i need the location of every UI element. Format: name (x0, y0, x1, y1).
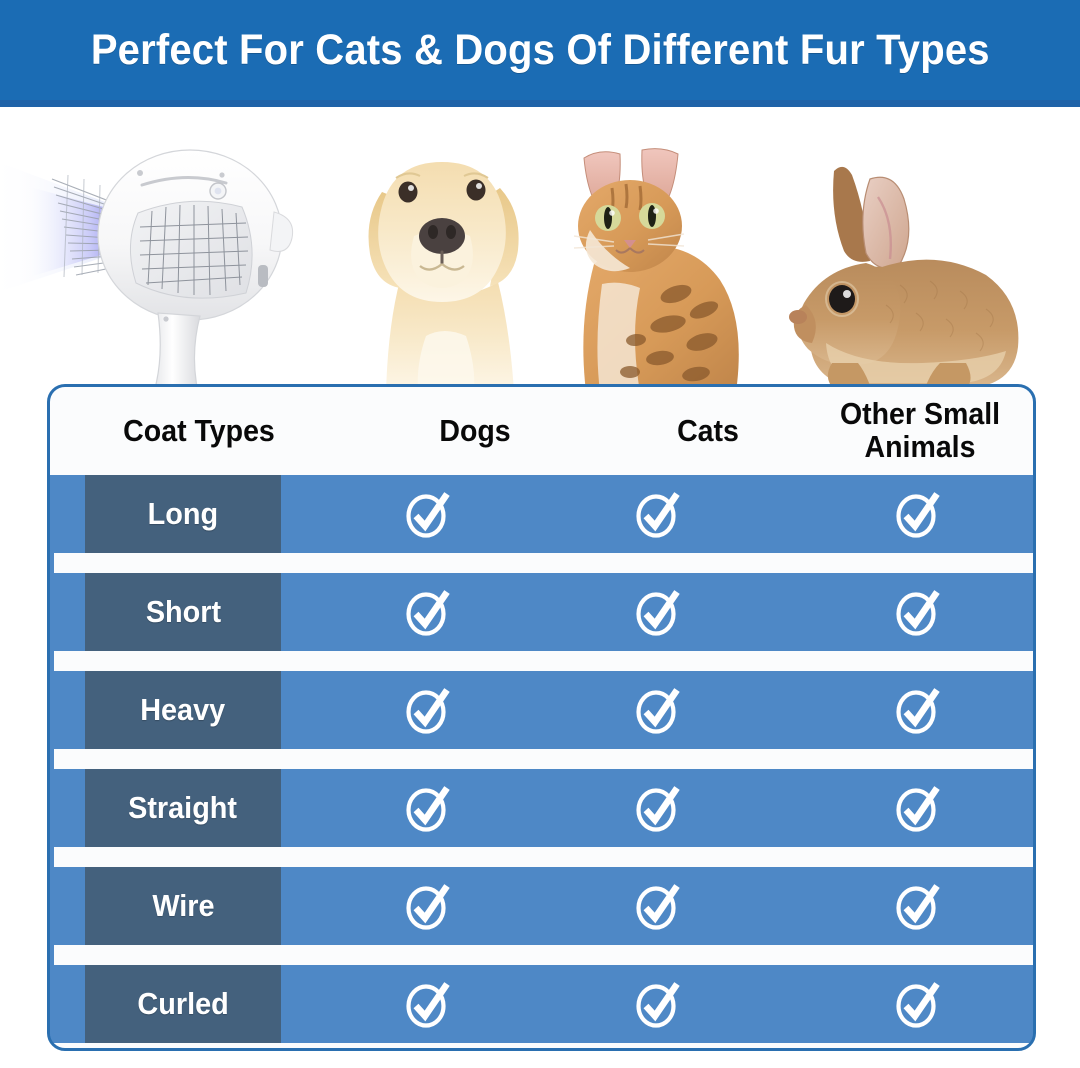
check-cell-other (878, 965, 958, 1043)
dog-photo (330, 140, 570, 392)
header-banner: Perfect For Cats & Dogs Of Different Fur… (0, 0, 1080, 100)
coat-type-label: Wire (152, 888, 214, 924)
check-circle-icon (405, 686, 451, 734)
check-cell-cats (618, 769, 698, 847)
check-circle-icon (895, 882, 941, 930)
check-circle-icon (895, 588, 941, 636)
cat-photo (556, 144, 771, 392)
table-row-separator (50, 651, 1033, 671)
check-cell-other (878, 475, 958, 553)
coat-type-cell: Short (85, 573, 281, 651)
coat-type-cell: Heavy (85, 671, 281, 749)
rabbit-photo (770, 157, 1050, 392)
coat-type-label: Short (145, 594, 220, 630)
check-circle-icon (635, 588, 681, 636)
table-row: Straight (50, 769, 1033, 847)
coat-type-compatibility-table: Coat Types Dogs Cats Other Small Animals… (47, 384, 1036, 1051)
column-header-dogs: Dogs (360, 415, 590, 448)
check-cell-dogs (388, 671, 468, 749)
check-cell-other (878, 671, 958, 749)
check-cell-cats (618, 573, 698, 651)
table-row-separator (50, 553, 1033, 573)
check-circle-icon (635, 784, 681, 832)
check-cell-other (878, 867, 958, 945)
check-circle-icon (405, 490, 451, 538)
coat-type-label: Heavy (141, 692, 226, 728)
pet-grooming-brush-icon (0, 117, 300, 392)
check-cell-dogs (388, 867, 468, 945)
check-cell-cats (618, 965, 698, 1043)
check-cell-cats (618, 671, 698, 749)
hero-image-strip (0, 107, 1080, 392)
check-cell-other (878, 573, 958, 651)
check-circle-icon (895, 980, 941, 1028)
check-circle-icon (635, 980, 681, 1028)
table-row: Long (50, 475, 1033, 553)
check-cell-cats (618, 475, 698, 553)
coat-type-cell: Long (85, 475, 281, 553)
coat-type-label: Straight (129, 790, 238, 826)
check-cell-dogs (388, 573, 468, 651)
check-circle-icon (635, 490, 681, 538)
column-header-other-line2: Animals (805, 431, 1035, 464)
table-row: Curled (50, 965, 1033, 1043)
coat-type-cell: Wire (85, 867, 281, 945)
check-circle-icon (895, 784, 941, 832)
check-cell-dogs (388, 769, 468, 847)
coat-type-label: Long (148, 496, 218, 532)
product-infographic-page: Perfect For Cats & Dogs Of Different Fur… (0, 0, 1080, 1068)
check-circle-icon (895, 490, 941, 538)
coat-type-cell: Straight (85, 769, 281, 847)
table-row-separator (50, 945, 1033, 965)
column-header-coat-types: Coat Types (84, 415, 314, 448)
check-cell-cats (618, 867, 698, 945)
table-row-separator (50, 749, 1033, 769)
coat-type-cell: Curled (85, 965, 281, 1043)
table-row: Wire (50, 867, 1033, 945)
check-circle-icon (405, 882, 451, 930)
table-header-row: Coat Types Dogs Cats Other Small Animals (50, 387, 1033, 475)
check-cell-other (878, 769, 958, 847)
check-circle-icon (405, 980, 451, 1028)
check-circle-icon (635, 686, 681, 734)
banner-underline (0, 100, 1080, 107)
table-row: Short (50, 573, 1033, 651)
table-row: Heavy (50, 671, 1033, 749)
check-circle-icon (405, 588, 451, 636)
column-header-other-small-animals: Other Small Animals (805, 398, 1035, 464)
check-circle-icon (635, 882, 681, 930)
check-cell-dogs (388, 475, 468, 553)
check-cell-dogs (388, 965, 468, 1043)
column-header-other-line1: Other Small (805, 398, 1035, 431)
table-row-separator (50, 847, 1033, 867)
check-circle-icon (895, 686, 941, 734)
page-title: Perfect For Cats & Dogs Of Different Fur… (91, 26, 990, 75)
table-body: Long Short Heavy Straight Wire Curled (50, 475, 1033, 1043)
check-circle-icon (405, 784, 451, 832)
table-bottom-spacer (50, 1043, 1033, 1051)
coat-type-label: Curled (137, 986, 228, 1022)
column-header-cats: Cats (593, 415, 823, 448)
